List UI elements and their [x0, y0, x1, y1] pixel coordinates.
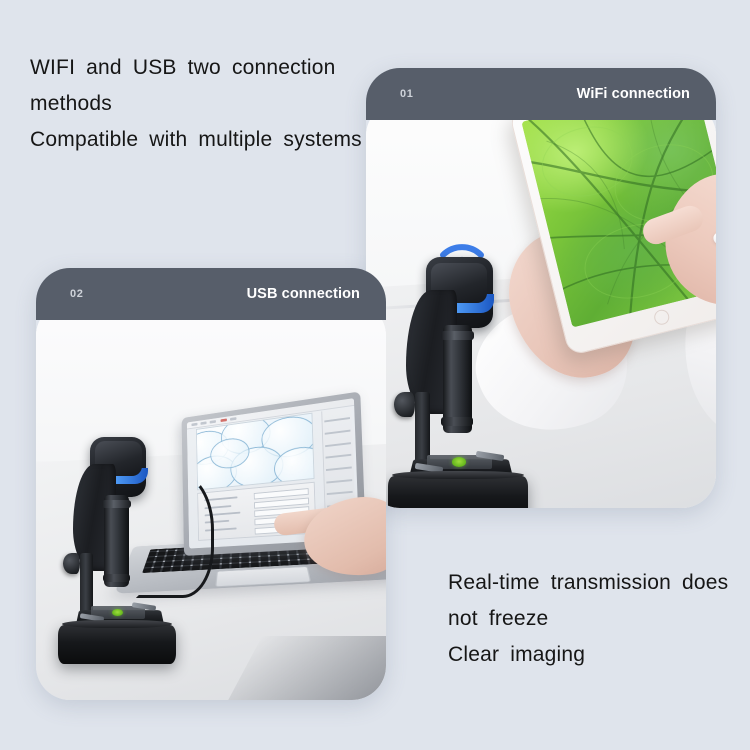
- tablet-home-button: [653, 308, 671, 326]
- usb-card-title: USB connection: [247, 286, 360, 302]
- headline-bottom-right: Real-time transmission does not freeze C…: [448, 565, 748, 673]
- wifi-card-title: WiFi connection: [577, 86, 690, 102]
- card-usb-connection[interactable]: 02 USB connection: [36, 268, 386, 700]
- digital-microscope-usb: [58, 432, 176, 664]
- laptop-trackpad: [215, 566, 311, 587]
- wifi-card-header: 01 WiFi connection: [366, 68, 716, 120]
- microscope-focus-knob: [394, 392, 415, 416]
- microscope-base: [388, 476, 528, 508]
- usb-card-header: 02 USB connection: [36, 268, 386, 320]
- wifi-card-photo: [366, 102, 716, 508]
- usb-card-photo: [36, 302, 386, 700]
- microscope-base: [58, 625, 176, 664]
- microscope-lens-barrel: [443, 325, 472, 433]
- microscope-focus-knob: [63, 553, 81, 574]
- poster-canvas: WIFI and USB two connection methods Comp…: [0, 0, 750, 750]
- wifi-card-number: 01: [400, 88, 413, 100]
- green-specimen: [452, 457, 466, 466]
- digital-microscope-wifi: [388, 252, 528, 508]
- microscope-lens-barrel: [104, 495, 129, 588]
- headline-top-left: WIFI and USB two connection methods Comp…: [30, 50, 375, 158]
- usb-cable: [136, 472, 214, 598]
- card-wifi-connection[interactable]: 01 WiFi connection: [366, 68, 716, 508]
- usb-card-number: 02: [70, 288, 83, 300]
